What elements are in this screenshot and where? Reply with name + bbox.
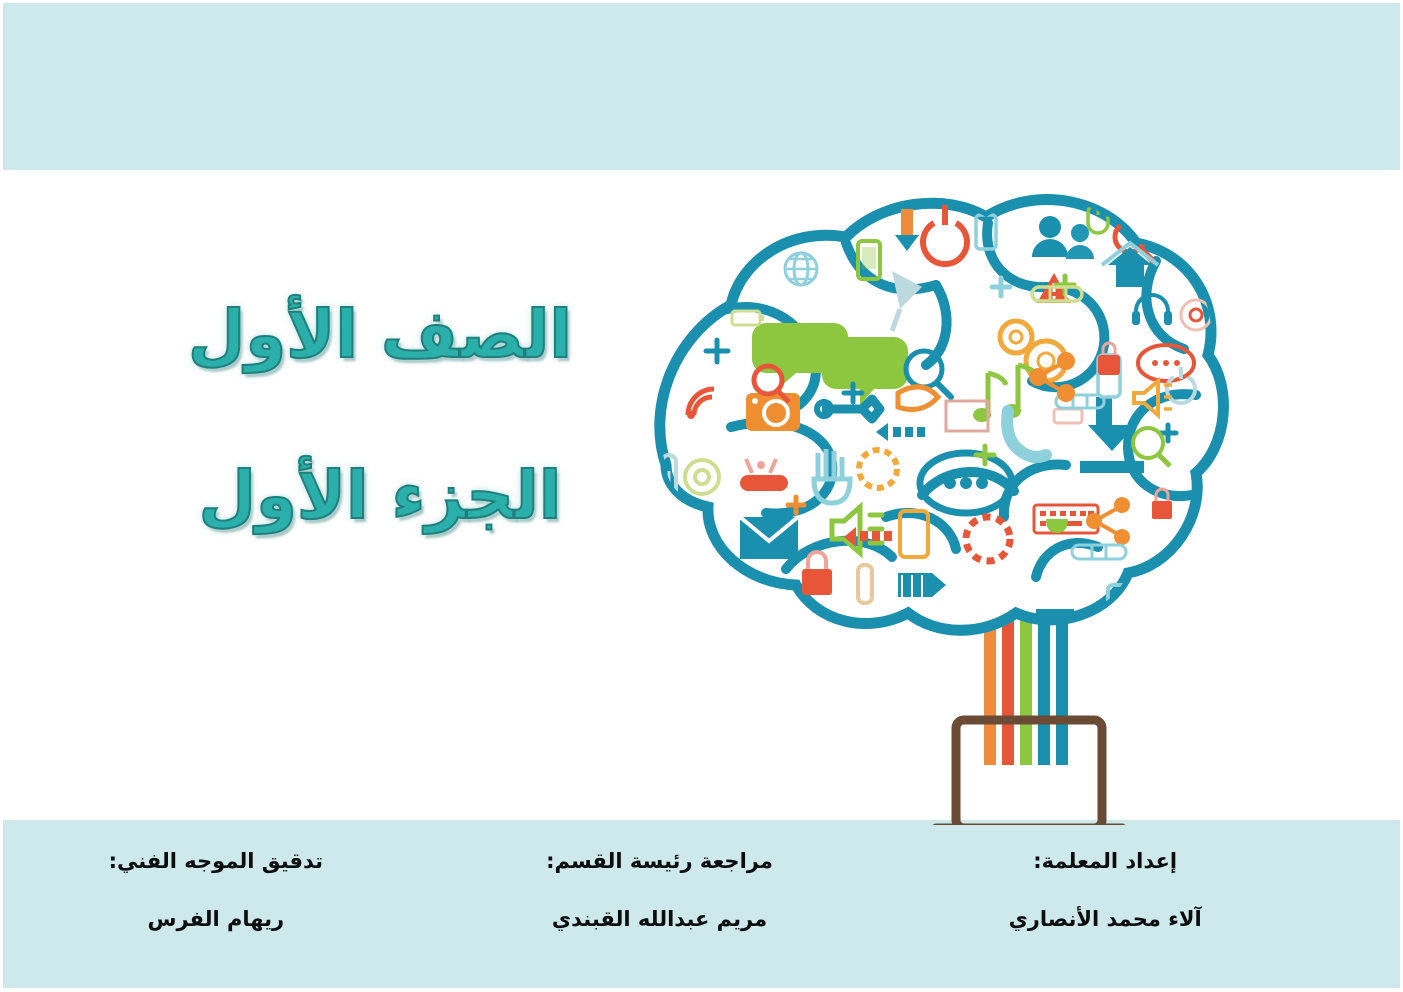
camera-icon (746, 393, 800, 431)
credit-role-technical-supervisor: تدقيق الموجه الفني: (0, 846, 449, 878)
mouse-icon (1156, 605, 1182, 641)
page-title-line-1: الصف الأول (120, 300, 640, 369)
credit-column-teacher: إعداد المعلمة: آلاء محمد الأنصاري (934, 836, 1400, 976)
credits-row: إعداد المعلمة: آلاء محمد الأنصاري مراجعة… (3, 836, 1400, 976)
page-title-line-2: الجزء الأول (120, 461, 640, 530)
credit-person-technical-supervisor: ريهام الفرس (0, 904, 449, 936)
credit-person-teacher: آلاء محمد الأنصاري (872, 904, 1338, 936)
cover-page: الصف الأول الجزء الأول (0, 0, 1403, 992)
wrench-icon (686, 531, 702, 573)
credit-column-technical-supervisor: تدقيق الموجه الفني: ريهام الفرس (3, 836, 469, 976)
wrench-icon (1138, 571, 1173, 621)
dongle-icon (1106, 611, 1118, 643)
envelope-icon (740, 517, 798, 559)
cover-title-block: الصف الأول الجزء الأول (120, 300, 640, 531)
brain-tree-illustration (636, 165, 1236, 825)
header-band (3, 3, 1400, 170)
credit-person-head-of-department: مريم عبدالله القبندي (427, 904, 893, 936)
credit-role-teacher: إعداد المعلمة: (872, 846, 1338, 878)
credit-role-head-of-department: مراجعة رئيسة القسم: (427, 846, 893, 878)
credit-column-head-of-department: مراجعة رئيسة القسم: مريم عبدالله القبندي (469, 836, 935, 976)
globe-icon (785, 253, 817, 285)
